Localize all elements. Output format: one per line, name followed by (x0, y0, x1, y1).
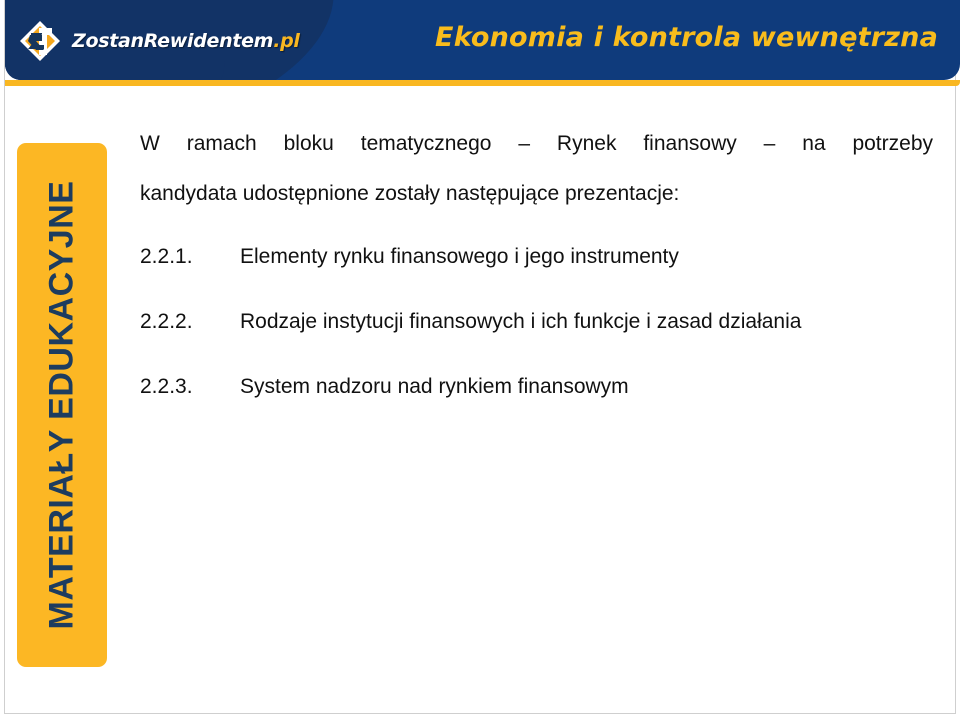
brand-logo[interactable]: ZostanRewidentem.pl (18, 19, 300, 63)
list-item: 2.2.3. System nadzoru nad rynkiem finans… (140, 375, 933, 399)
header-accent-rule (5, 80, 960, 86)
list-item-number: 2.2.3. (140, 375, 240, 399)
list-item-label: Elementy rynku finansowego i jego instru… (240, 245, 933, 269)
list-item-label: System nadzoru nad rynkiem finansowym (240, 375, 933, 399)
list-item-label: Rodzaje instytucji finansowych i ich fun… (240, 310, 933, 334)
intro-paragraph-line-2: kandydata udostępnione zostały następują… (140, 183, 933, 204)
slide-canvas: ZostanRewidentem.pl Ekonomia i kontrola … (0, 0, 960, 720)
intro-paragraph-line-1: W ramach bloku tematycznego – Rynek fina… (140, 133, 933, 154)
zr-diamond-logo-icon (18, 19, 62, 63)
slide-content: W ramach bloku tematycznego – Rynek fina… (140, 133, 933, 399)
page-title: Ekonomia i kontrola wewnętrzna (435, 22, 938, 53)
list-item: 2.2.2. Rodzaje instytucji finansowych i … (140, 310, 933, 334)
list-item-number: 2.2.2. (140, 310, 240, 334)
intro-paragraph: W ramach bloku tematycznego – Rynek fina… (140, 133, 933, 204)
brand-logo-text-tld: .pl (273, 30, 299, 52)
side-tab-label: MATERIAŁY EDUKACYJNE (43, 181, 82, 630)
side-tab-materialy-edukacyjne: MATERIAŁY EDUKACYJNE (17, 143, 107, 667)
brand-logo-text: ZostanRewidentem.pl (72, 30, 300, 52)
brand-logo-text-main: ZostanRewidentem (72, 30, 273, 52)
list-item-number: 2.2.1. (140, 245, 240, 269)
list-item: 2.2.1. Elementy rynku finansowego i jego… (140, 245, 933, 269)
